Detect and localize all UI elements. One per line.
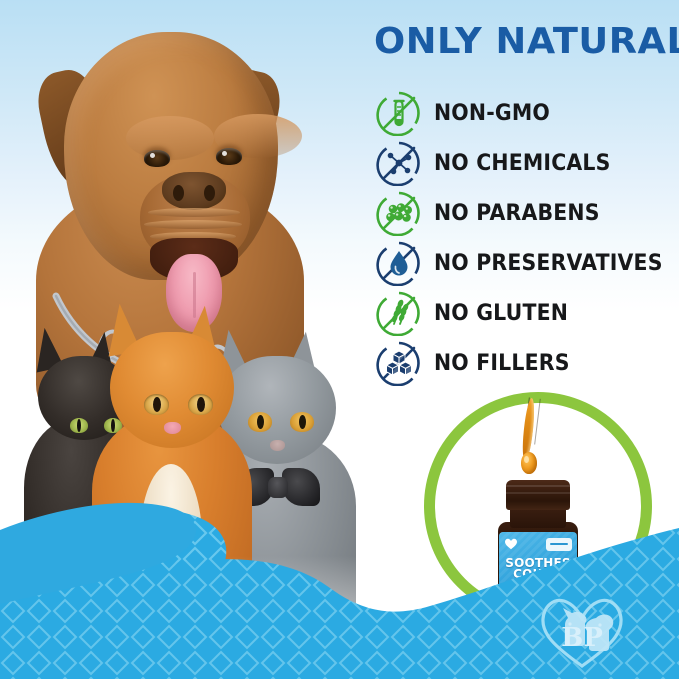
cubes-icon	[376, 340, 422, 386]
cat-chest-bib	[140, 464, 202, 614]
cat-nose	[270, 440, 285, 451]
bottle-label-title: SOOTHES COUGH	[499, 558, 577, 580]
bottle-cap	[506, 480, 570, 510]
molecule-icon	[376, 140, 422, 186]
cat-head	[110, 332, 234, 448]
cat-eye-right	[290, 412, 314, 432]
product-infographic: ONLY NATURAL NON-GMO	[0, 0, 679, 679]
water-drop-icon	[376, 240, 422, 286]
feature-label: NO PARABENS	[434, 201, 600, 226]
dog-brow-left	[126, 116, 214, 160]
label-line-2: COUGH	[499, 569, 577, 580]
feature-item-no-fillers: NO FILLERS	[376, 338, 676, 388]
brand-monogram: BP	[561, 623, 603, 653]
cat-eye-right	[188, 394, 213, 415]
feature-item-no-preservatives: NO PRESERVATIVES	[376, 238, 676, 288]
feature-label: NON-GMO	[434, 101, 550, 126]
feature-list: NON-GMO	[376, 88, 676, 388]
cat-orange-tabby	[88, 304, 256, 634]
feature-label: NO GLUTEN	[434, 301, 568, 326]
cat-eye-left	[70, 418, 88, 433]
cat-eye-left	[144, 394, 169, 415]
feature-label: NO PRESERVATIVES	[434, 251, 663, 276]
dog-wrinkle	[148, 208, 240, 217]
brand-logo: BP	[534, 592, 630, 670]
dog-wrinkle	[144, 220, 242, 229]
feature-item-no-parabens: NO PARABENS	[376, 188, 676, 238]
feature-label: NO CHEMICALS	[434, 151, 611, 176]
feature-item-non-gmo: NON-GMO	[376, 88, 676, 138]
test-tube-icon	[376, 90, 422, 136]
bottle-label-subtitle: & throat	[499, 582, 577, 592]
us-flag-icon	[503, 597, 516, 606]
feature-item-no-chemicals: NO CHEMICALS	[376, 138, 676, 188]
dog-nose	[162, 172, 226, 210]
dog-eye-left	[144, 150, 170, 167]
feature-label: NO FILLERS	[434, 351, 570, 376]
heart-logo-icon	[504, 537, 518, 550]
animal-photo-group	[0, 0, 400, 640]
feature-item-no-gluten: NO GLUTEN	[376, 288, 676, 338]
label-badge	[546, 538, 572, 551]
wheat-icon	[376, 290, 422, 336]
oil-dropper-icon	[512, 398, 546, 486]
dog-eye-right	[216, 148, 242, 165]
dog-head	[64, 32, 278, 280]
product-bottle: SOOTHES COUGH & throat	[492, 480, 584, 610]
cat-nose	[164, 422, 181, 434]
page-title: ONLY NATURAL	[374, 24, 672, 60]
spheres-icon	[376, 190, 422, 236]
